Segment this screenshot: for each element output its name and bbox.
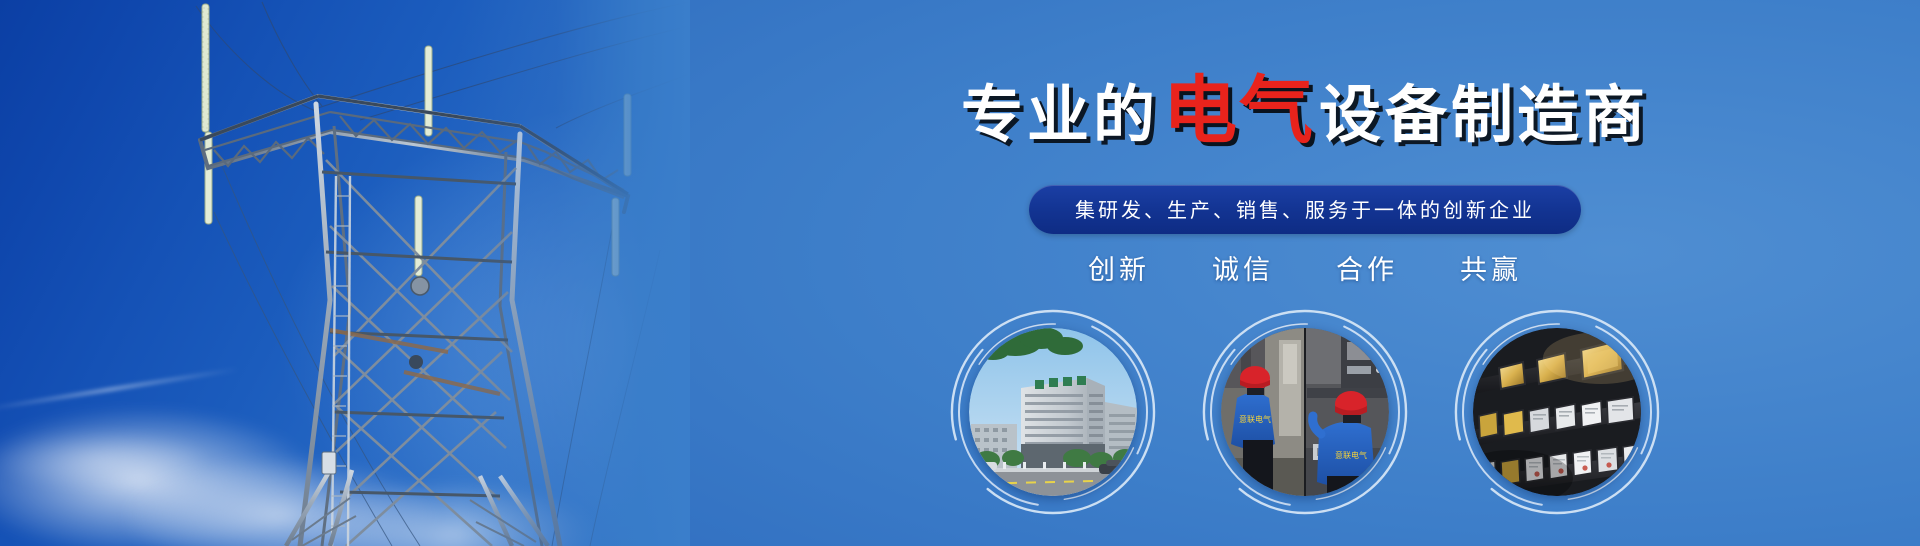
keyword-item: 共赢 [1460, 248, 1522, 287]
circle-photo-item[interactable] [1461, 316, 1653, 508]
certificate-wall-photo [1473, 328, 1641, 496]
tower-center-hub [411, 277, 429, 295]
hero-banner: 专业的电气设备制造商 集研发、生产、销售、服务于一体的创新企业 创新 诚信 合作… [0, 0, 1920, 546]
circle-photo-item[interactable]: 意联电气 [1209, 316, 1401, 508]
headline-part-1: 专业的 [961, 81, 1159, 150]
insulator-string [205, 132, 212, 224]
office-building-photo [969, 328, 1137, 496]
insulator-string [202, 4, 209, 132]
page-title: 专业的电气设备制造商 [690, 74, 1920, 148]
subtitle-pill-wrap: 集研发、生产、销售、服务于一体的创新企业 [690, 185, 1920, 234]
insulator-string [415, 196, 422, 276]
keyword-item: 诚信 [1212, 248, 1274, 287]
headline-part-2: 设备制造商 [1319, 81, 1649, 150]
transmission-tower-photo [0, 0, 690, 546]
keyword-item: 创新 [1088, 248, 1150, 287]
subtitle-pill: 集研发、生产、销售、服务于一体的创新企业 [1029, 185, 1581, 234]
technicians-at-work-photo: 意联电气 [1221, 328, 1389, 496]
circle-photo-row: 意联电气 [690, 316, 1920, 508]
keyword-item: 合作 [1336, 248, 1398, 287]
insulator-string [425, 46, 432, 136]
svg-text:意联电气: 意联电气 [1239, 414, 1271, 424]
headline-highlight: 电气 [1159, 69, 1319, 152]
photo-edge-fade [460, 0, 690, 546]
circle-photo-item[interactable] [957, 316, 1149, 508]
banner-content: 专业的电气设备制造商 集研发、生产、销售、服务于一体的创新企业 创新 诚信 合作… [690, 0, 1920, 546]
keyword-row: 创新 诚信 合作 共赢 [690, 248, 1920, 287]
equipment-box [322, 452, 336, 474]
svg-text:意联电气: 意联电气 [1335, 450, 1367, 460]
